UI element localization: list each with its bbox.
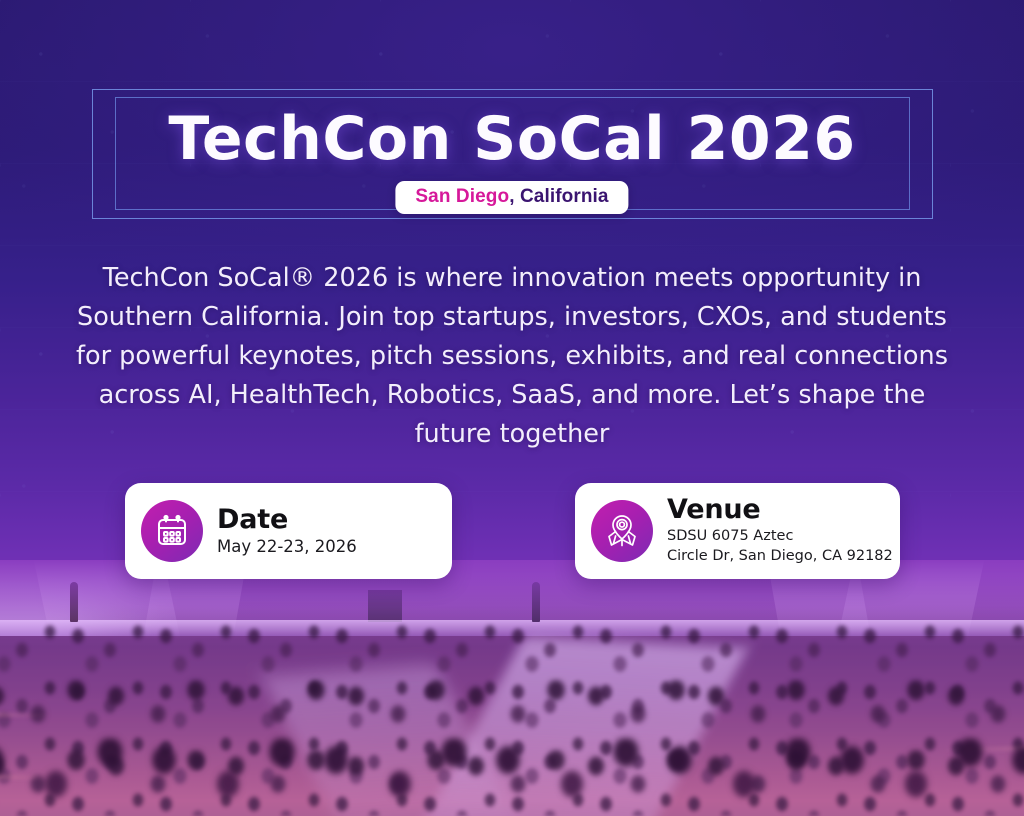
page-title: TechCon SoCal 2026 — [0, 104, 1024, 174]
venue-card[interactable]: Venue SDSU 6075 Aztec Circle Dr, San Die… — [575, 483, 900, 579]
date-card[interactable]: Date May 22-23, 2026 — [125, 483, 452, 579]
date-card-text: Date May 22-23, 2026 — [217, 506, 357, 557]
venue-card-address-line1: SDSU 6075 Aztec — [667, 528, 893, 546]
map-pin-icon — [591, 500, 653, 562]
venue-card-text: Venue SDSU 6075 Aztec Circle Dr, San Die… — [667, 496, 893, 566]
event-poster: TechCon SoCal 2026 San Diego, California… — [0, 0, 1024, 816]
location-badge: San Diego, California — [395, 181, 628, 214]
venue-card-title: Venue — [667, 496, 893, 525]
badge-state: California — [520, 186, 609, 207]
date-card-title: Date — [217, 506, 357, 535]
calendar-icon — [141, 500, 203, 562]
date-card-value: May 22-23, 2026 — [217, 537, 357, 556]
badge-separator: , — [509, 186, 520, 207]
event-description: TechCon SoCal® 2026 is where innovation … — [62, 259, 962, 454]
badge-city: San Diego — [415, 186, 509, 207]
info-cards: Date May 22-23, 2026 Venue SDSU 6075 Azt… — [125, 483, 900, 579]
venue-card-address-line2: Circle Dr, San Diego, CA 92182 — [667, 548, 893, 566]
auditorium-crowd-photo — [0, 560, 1024, 816]
